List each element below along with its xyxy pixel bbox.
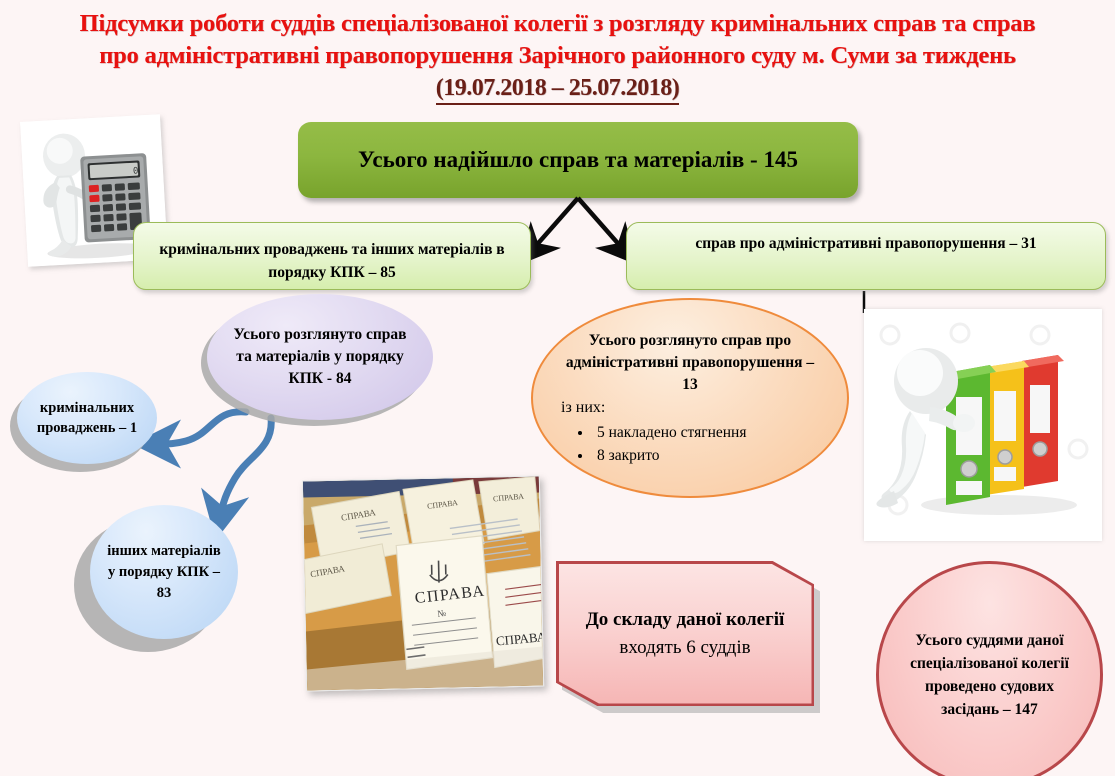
title-date-range: (19.07.2018 – 25.07.2018): [436, 75, 679, 105]
sessions-held-circle: Усього суддями даної спеціалізованої кол…: [876, 561, 1103, 776]
person-with-binders-image: [864, 309, 1102, 541]
sessions-held-label: Усього суддями даної спеціалізованої кол…: [901, 629, 1078, 721]
criminal-received-label: кримінальних проваджень та інших матеріа…: [148, 238, 516, 284]
criminal-received-box: кримінальних проваджень та інших матеріа…: [133, 222, 531, 290]
criminal-considered-ellipse: Усього розглянуто справ та матеріалів у …: [207, 294, 433, 420]
list-item: 5 накладено стягнення: [593, 421, 821, 444]
admin-received-label: справ про адміністративні правопорушення…: [695, 235, 1036, 252]
total-received-box: Усього надійшло справ та матеріалів - 14…: [298, 122, 858, 198]
criminal-proceedings-ellipse: кримінальних проваджень – 1: [17, 372, 157, 464]
admin-considered-ellipse: Усього розглянуто справ про адміністрати…: [531, 298, 849, 498]
callout-rest-text: входять 6 суддів: [619, 637, 750, 658]
other-materials-ellipse: інших матеріалів у порядку КПК – 83: [90, 505, 238, 639]
infographic-page: Підсумки роботи суддів спеціалізованої к…: [0, 0, 1115, 776]
admin-received-box: справ про адміністративні правопорушення…: [626, 222, 1106, 290]
panel-composition-callout: До складу даної колегії входять 6 суддів: [556, 561, 814, 706]
admin-considered-subheading: із них:: [559, 397, 821, 419]
criminal-proceedings-label: кримінальних проваджень – 1: [29, 398, 145, 438]
criminal-considered-label: Усього розглянуто справ та матеріалів у …: [225, 324, 415, 390]
svg-text:№: №: [437, 608, 447, 619]
title-line-2: про адміністративні правопорушення Заріч…: [0, 40, 1115, 72]
title-line-1: Підсумки роботи суддів спеціалізованої к…: [0, 8, 1115, 40]
svg-text:0: 0: [133, 166, 139, 176]
admin-considered-list: 5 накладено стягнення 8 закрито: [559, 421, 821, 467]
page-title: Підсумки роботи суддів спеціалізованої к…: [0, 8, 1115, 105]
admin-considered-heading: Усього розглянуто справ про адміністрати…: [559, 330, 821, 396]
list-item: 8 закрито: [593, 444, 821, 467]
other-materials-label: інших матеріалів у порядку КПК – 83: [102, 541, 226, 604]
total-received-label: Усього надійшло справ та матеріалів - 14…: [358, 145, 798, 175]
court-case-files-photo: СПРАВА СПРАВА СПРАВА СПРАВА: [302, 476, 544, 692]
callout-body: До складу даної колегії входять 6 суддів: [559, 564, 812, 704]
callout-bold-text: До складу даної колегії: [586, 609, 785, 630]
